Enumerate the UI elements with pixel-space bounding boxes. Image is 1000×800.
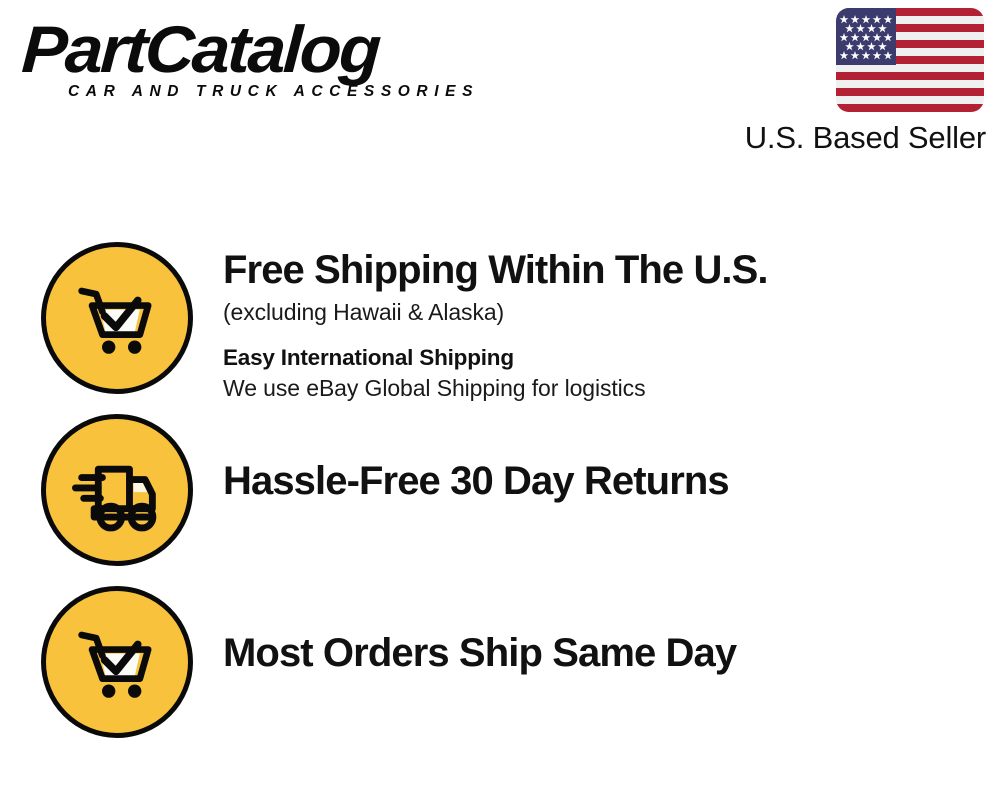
us-flag-icon	[836, 8, 984, 112]
feature-title: Most Orders Ship Same Day	[223, 631, 1000, 676]
feature-text-block: Free Shipping Within The U.S. (excluding…	[193, 242, 1000, 402]
flag-stripe	[836, 104, 984, 112]
delivery-truck-icon	[41, 414, 193, 566]
feature-text-block: Most Orders Ship Same Day	[193, 586, 1000, 676]
flag-stripe	[836, 88, 984, 96]
brand-wordmark: PartCatalog	[20, 18, 512, 81]
feature-text-block: Hassle-Free 30 Day Returns	[193, 414, 1000, 504]
brand-logo[interactable]: PartCatalog CAR AND TRUCK ACCESSORIES	[22, 18, 492, 101]
feature-title: Hassle-Free 30 Day Returns	[223, 459, 1000, 504]
feature-row: Most Orders Ship Same Day	[0, 586, 1000, 758]
feature-row: Free Shipping Within The U.S. (excluding…	[0, 242, 1000, 414]
feature-title: Free Shipping Within The U.S.	[223, 248, 1000, 293]
shopping-cart-check-icon	[41, 242, 193, 394]
us-based-seller-label: U.S. Based Seller	[714, 121, 986, 155]
feature-subnote: We use eBay Global Shipping for logistic…	[223, 374, 1000, 403]
feature-subtitle: (excluding Hawaii & Alaska)	[223, 298, 1000, 327]
shopping-cart-check-icon	[41, 586, 193, 738]
shipping-info-banner: PartCatalog CAR AND TRUCK ACCESSORIES	[0, 0, 1000, 800]
feature-row: Hassle-Free 30 Day Returns	[0, 414, 1000, 586]
flag-stars-icon	[836, 8, 896, 65]
us-based-seller-badge: U.S. Based Seller	[714, 8, 986, 155]
feature-subheading: Easy International Shipping	[223, 344, 1000, 371]
flag-stripe	[836, 72, 984, 80]
